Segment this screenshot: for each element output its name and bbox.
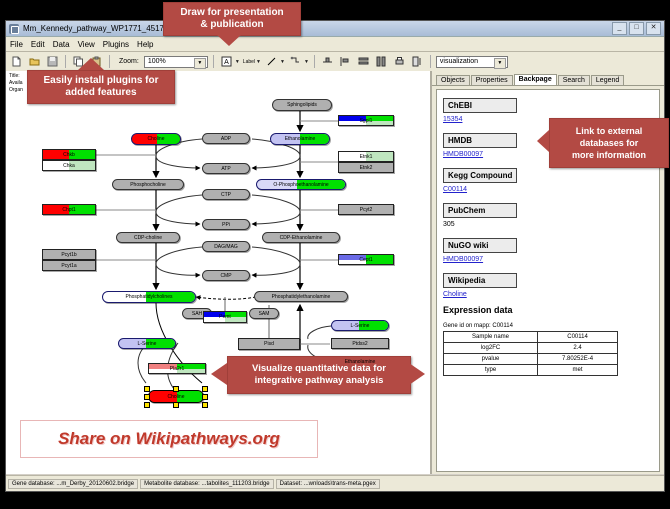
meta-title: Title: [9,73,23,80]
toolbar-separator-2 [109,55,110,68]
node-label: ADP [221,136,231,142]
distribute-icon[interactable] [338,54,353,69]
selection-handle[interactable] [173,402,179,408]
callout-plugins-arrow [78,58,104,70]
zoom-label: Zoom: [119,58,139,65]
side-panel-tabs: Objects Properties Backpage Search Legen… [432,71,664,86]
zoom-combobox[interactable]: 100% ▼ [144,56,208,68]
window-titlebar: Mm_Kennedy_pathway_WP1771_45176.gpml _ □… [6,21,664,37]
app-icon [9,24,19,34]
node-label: Chka [63,163,75,169]
node-label: L-Serine [351,323,370,329]
chevron-down-icon-label[interactable]: ▼ [256,59,261,65]
node-label: Cept1 [359,257,372,263]
tab-objects[interactable]: Objects [436,75,470,85]
nugo-link[interactable]: HMDB00097 [443,256,653,263]
menu-help[interactable]: Help [137,40,153,49]
connector-icon[interactable] [288,54,303,69]
node-phosphatidylcholines[interactable]: Phosphatidylcholines [102,291,196,303]
node-sphingolipids[interactable]: Sphingolipids [272,99,332,111]
gene-pcyt2[interactable]: Pcyt2 [338,204,394,215]
node-phosphocholine[interactable]: Phosphocholine [112,179,184,190]
node-l-serine-left[interactable]: L-Serine [118,338,176,349]
node-label: SAH [192,311,202,317]
callout-link: Link to external databases for more info… [549,118,669,168]
group-icon[interactable] [374,54,389,69]
node-label: Choline [168,394,185,400]
node-o-phosphoethanolamine[interactable]: O-Phosphoethanolamine [256,179,346,190]
font-tool[interactable]: A ▼ [219,54,240,69]
status-metabolite-database: Metabolite database: ...tabolites_111203… [140,479,274,489]
gene-chkb[interactable]: Chkb [42,149,96,160]
node-label: SAM [259,311,270,317]
node-label: Pemt [219,314,231,320]
node-label: Pcyt1b [61,252,76,258]
chevron-down-icon[interactable]: ▼ [194,58,206,69]
callout-visualize-arrow-right [409,363,425,385]
node-phosphatidylethanolamine[interactable]: Phosphatidylethanolamine [254,291,348,302]
callout-draw-line1: Draw for presentation [180,7,283,19]
node-label: ATP [221,166,230,172]
chevron-down-icon-line[interactable]: ▼ [280,59,285,65]
node-choline-top[interactable]: Choline [131,133,181,145]
expression-table: Sample name C00114 log2FC 2.4 pvalue 7.8… [443,331,618,376]
gene-chpt1[interactable]: Chpt1 [42,204,96,215]
callout-visualize-line1: Visualize quantitative data for [252,363,386,375]
section-header-chebi: ChEBI [443,98,517,113]
tab-properties[interactable]: Properties [471,75,513,85]
toolbar-separator [65,55,66,68]
node-label: CDP-choline [134,235,162,241]
callout-link-line1: Link to external [576,125,643,137]
node-label: DAG/MAG [214,244,238,250]
close-button[interactable]: ✕ [646,22,661,35]
callout-plugins-line2: added features [65,87,136,99]
canvas-surface[interactable]: Title: Availa Organ [6,71,430,474]
selection-handle[interactable] [144,386,150,392]
toolbar-separator-4 [314,55,315,68]
callout-draw-arrow [216,34,242,46]
node-label: PPi [222,222,230,228]
save-icon[interactable] [45,54,60,69]
node-label: Chpt1 [62,207,75,213]
visualization-value: visualization [440,58,478,65]
node-label: Phosphatidylethanolamine [272,294,331,300]
expression-data-title: Expression data [443,305,653,315]
table-row: pvalue 7.80252E-4 [444,354,618,365]
status-gene-database: Gene database: ...m_Derby_20120602.bridg… [8,479,138,489]
section-header-nugo: NuGO wiki [443,238,517,253]
node-dag-mag[interactable]: DAG/MAG [202,241,250,252]
callout-visualize-line2: integrative pathway analysis [255,375,384,387]
node-label: Ethanolamine [285,136,316,142]
line-icon[interactable] [264,54,279,69]
menu-edit[interactable]: Edit [31,40,45,49]
node-label: Chkb [63,152,75,158]
chevron-down-icon-font[interactable]: ▼ [235,59,240,65]
window-controls: _ □ ✕ [612,22,661,35]
callout-share: Share on Wikipathways.org [20,420,318,458]
section-header-wikipedia: Wikipedia [443,273,517,288]
menu-view[interactable]: View [78,40,95,49]
visualization-combobox[interactable]: visualization ▼ [436,56,508,68]
table-row: type met [444,365,618,376]
new-file-icon[interactable] [9,54,24,69]
gene-id-line: Gene id on mapp: C00114 [443,323,653,329]
screenshot-root: Mm_Kennedy_pathway_WP1771_45176.gpml _ □… [0,0,670,509]
node-adp[interactable]: ADP [202,133,250,144]
cell-key: log2FC [444,343,538,354]
node-label: CDP-Ethanolamine [280,235,323,241]
node-label: Choline [148,136,165,142]
pathway-canvas[interactable]: Title: Availa Organ [6,71,432,474]
svg-text:A: A [224,59,229,66]
font-icon[interactable]: A [219,54,234,69]
line-tool[interactable]: ▼ [264,54,285,69]
pubchem-value: 305 [443,221,653,228]
node-label: CTP [221,192,231,198]
callout-visualize: Visualize quantitative data for integrat… [227,356,411,394]
wikipedia-link[interactable]: Choline [443,291,653,298]
callout-plugins-line1: Easily install plugins for [43,75,158,87]
callout-visualize-arrow-left [211,363,227,385]
toolbar: Zoom: 100% ▼ A ▼ Label ▼ ▼ [6,52,664,72]
chevron-down-icon-connector[interactable]: ▼ [304,59,309,65]
selection-handle[interactable] [202,386,208,392]
cell-key: type [444,365,538,376]
gene-etnk2[interactable]: Etnk2 [338,162,394,173]
chevron-down-icon-visualization[interactable]: ▼ [494,58,506,69]
cell-key: Sample name [444,332,538,343]
node-label: Phosphocholine [130,182,166,188]
cell-value: 7.80252E-4 [538,354,618,365]
node-cdp-ethanolamine[interactable]: CDP-Ethanolamine [262,232,340,243]
menu-file[interactable]: File [10,40,23,49]
menu-data[interactable]: Data [53,40,70,49]
cell-value: met [538,365,618,376]
node-cmp[interactable]: CMP [202,270,250,281]
node-ethanolamine-top[interactable]: Ethanolamine [270,133,330,145]
selection-handle[interactable] [202,394,208,400]
section-header-kegg: Kegg Compound [443,168,517,183]
layer-icon[interactable] [410,54,425,69]
open-folder-icon[interactable] [27,54,42,69]
node-label: CMP [220,273,231,279]
toolbar-separator-5 [430,55,431,68]
gene-pcyt1b[interactable]: Pcyt1b [42,249,96,260]
gene-pisd[interactable]: Pisd [238,338,300,350]
meta-availability: Availa [9,80,23,87]
callout-link-line3: more information [572,149,646,161]
print-icon[interactable] [392,54,407,69]
statusbar: Gene database: ...m_Derby_20120602.bridg… [6,475,664,491]
section-header-pubchem: PubChem [443,203,517,218]
cell-value: 2.4 [538,343,618,354]
gene-chka[interactable]: Chka [42,160,96,171]
node-cdp-choline[interactable]: CDP-choline [116,232,180,243]
gene-sgpl1[interactable]: Sgpl1 [338,115,394,126]
node-label: Etnk2 [360,165,373,171]
callout-plugins: Easily install plugins for added feature… [27,70,175,104]
node-label: Phosphatidylcholines [126,294,173,300]
node-label: Sphingolipids [287,102,317,108]
cell-key: pvalue [444,354,538,365]
table-row: log2FC 2.4 [444,343,618,354]
node-sam[interactable]: SAM [249,308,279,319]
node-label: O-Phosphoethanolamine [273,182,328,188]
node-label: Ptdss2 [352,341,367,347]
gene-ptdss2[interactable]: Ptdss2 [331,338,389,349]
menu-plugins[interactable]: Plugins [103,40,129,49]
label-tool-text: Label [243,59,255,65]
meta-organism: Organ [9,87,23,94]
kegg-link[interactable]: C00114 [443,186,653,193]
cell-value: C00114 [538,332,618,343]
callout-draw-line2: & publication [200,19,263,31]
node-label: Pisd [264,341,274,347]
tab-backpage[interactable]: Backpage [514,74,557,85]
node-label: Pcyt1a [61,263,76,269]
maximize-button[interactable]: □ [629,22,644,35]
connector-tool[interactable]: ▼ [288,54,309,69]
stack-icon[interactable] [356,54,371,69]
label-tool[interactable]: Label ▼ [243,59,261,65]
node-label: Etnk1 [360,154,373,160]
gene-pcyt1a[interactable]: Pcyt1a [42,260,96,271]
node-ppi[interactable]: PPi [202,219,250,230]
node-label: Ethanolamine [345,359,376,365]
minimize-button[interactable]: _ [612,22,627,35]
gene-cept1[interactable]: Cept1 [338,254,394,265]
tab-search[interactable]: Search [558,75,590,85]
toolbar-separator-3 [213,55,214,68]
selection-handle[interactable] [144,402,150,408]
callout-link-line2: databases for [580,137,639,149]
align-icon[interactable] [320,54,335,69]
tab-legend[interactable]: Legend [591,75,624,85]
canvas-meta: Title: Availa Organ [9,73,23,94]
node-label: Pcyt2 [360,207,373,213]
gene-etnk1[interactable]: Etnk1 [338,151,394,162]
table-row: Sample name C00114 [444,332,618,343]
section-header-hmdb: HMDB [443,133,517,148]
node-label: L-Serine [138,341,157,347]
gene-pemt[interactable]: Pemt [203,311,247,323]
selection-handle[interactable] [202,402,208,408]
status-dataset: Dataset: ...wnloads\trans-meta.pgex [276,479,380,489]
callout-share-text: Share on Wikipathways.org [58,429,280,449]
selection-handle[interactable] [173,386,179,392]
selection-handle[interactable] [144,394,150,400]
node-atp[interactable]: ATP [202,163,250,174]
zoom-value: 100% [148,58,166,65]
menubar: File Edit Data View Plugins Help [6,37,664,52]
node-label: Sgpl1 [360,118,373,124]
node-l-serine-right[interactable]: L-Serine [331,320,389,331]
node-label: Pla2r1 [170,366,184,372]
callout-link-arrow [537,130,549,152]
gene-pla2r1[interactable]: Pla2r1 [148,363,206,374]
callout-draw: Draw for presentation & publication [163,2,301,36]
node-ctp[interactable]: CTP [202,189,250,200]
